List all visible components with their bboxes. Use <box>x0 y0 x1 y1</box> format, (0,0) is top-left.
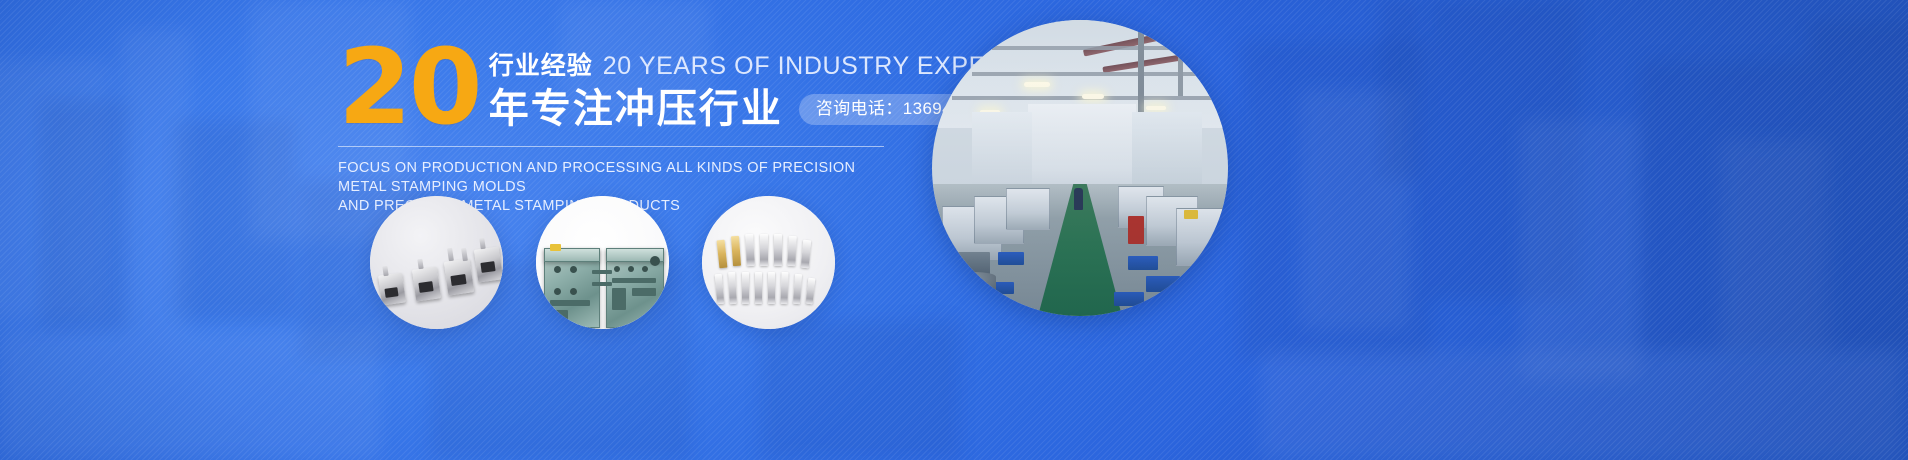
headline-cn-big: 年专注冲压行业 <box>489 86 783 132</box>
terminals-image <box>702 196 835 329</box>
headline-block: 20 行业经验 20 YEARS OF INDUSTRY EXPERIENCE … <box>338 40 898 216</box>
years-number: 20 <box>338 44 480 130</box>
product-circle-molds[interactable] <box>536 196 669 329</box>
headline-cn-small: 行业经验 <box>489 46 593 82</box>
product-circle-terminals[interactable] <box>702 196 835 329</box>
molds-image <box>536 196 669 329</box>
promo-banner: 20 行业经验 20 YEARS OF INDUSTRY EXPERIENCE … <box>0 0 1908 460</box>
factory-photo-grade <box>932 20 1228 316</box>
factory-photo-circle[interactable] <box>932 20 1228 316</box>
product-circle-connectors[interactable] <box>370 196 503 329</box>
headline-row: 20 行业经验 20 YEARS OF INDUSTRY EXPERIENCE … <box>338 40 898 132</box>
subtitle-line-1: FOCUS ON PRODUCTION AND PROCESSING ALL K… <box>338 159 883 197</box>
connectors-image <box>370 196 503 329</box>
